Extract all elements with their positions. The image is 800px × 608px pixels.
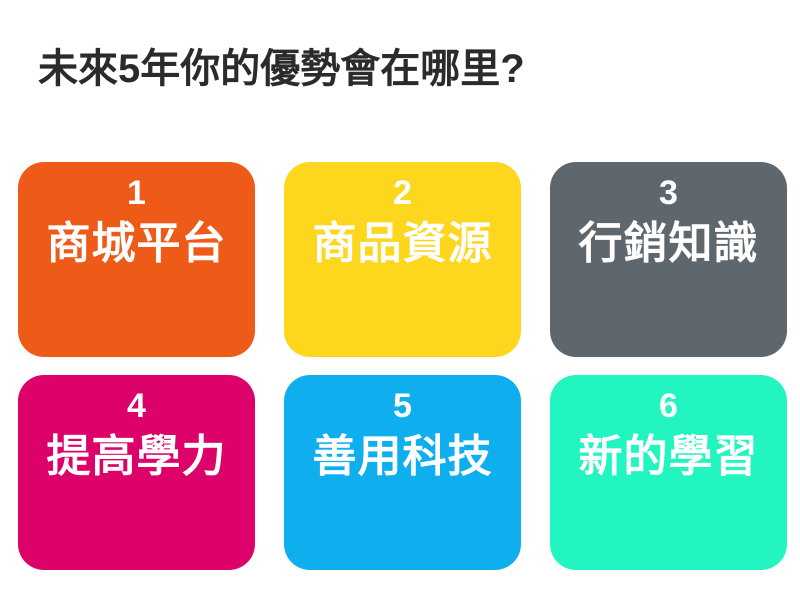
card-6[interactable]: 6 新的學習 [550, 375, 787, 570]
card-3[interactable]: 3 行銷知識 [550, 162, 787, 357]
card-4-label: 提高學力 [47, 433, 227, 481]
card-1-content: 1 商城平台 [0, 162, 287, 268]
card-5-number: 5 [393, 389, 412, 423]
card-5-label: 善用科技 [313, 433, 493, 481]
slide-canvas: 未來5年你的優勢會在哪里? 1 商城平台 2 商品資源 3 行銷知識 4 提高學… [0, 0, 800, 608]
card-1-number: 1 [127, 176, 146, 210]
card-3-label: 行銷知識 [579, 220, 759, 268]
card-3-content: 3 行銷知識 [519, 162, 800, 268]
card-1-label: 商城平台 [47, 220, 227, 268]
card-4-number: 4 [127, 389, 146, 423]
card-2[interactable]: 2 商品資源 [284, 162, 521, 357]
card-3-number: 3 [659, 176, 678, 210]
page-title: 未來5年你的優勢會在哪里? [38, 46, 525, 92]
card-5-content: 5 善用科技 [253, 375, 553, 481]
card-2-label: 商品資源 [313, 220, 493, 268]
card-2-content: 2 商品資源 [253, 162, 553, 268]
card-2-number: 2 [393, 176, 412, 210]
card-6-number: 6 [659, 389, 678, 423]
card-4[interactable]: 4 提高學力 [18, 375, 255, 570]
card-6-content: 6 新的學習 [519, 375, 800, 481]
card-1[interactable]: 1 商城平台 [18, 162, 255, 357]
card-5[interactable]: 5 善用科技 [284, 375, 521, 570]
card-6-label: 新的學習 [579, 433, 759, 481]
card-grid: 1 商城平台 2 商品資源 3 行銷知識 4 提高學力 5 [18, 162, 788, 570]
card-4-content: 4 提高學力 [0, 375, 287, 481]
